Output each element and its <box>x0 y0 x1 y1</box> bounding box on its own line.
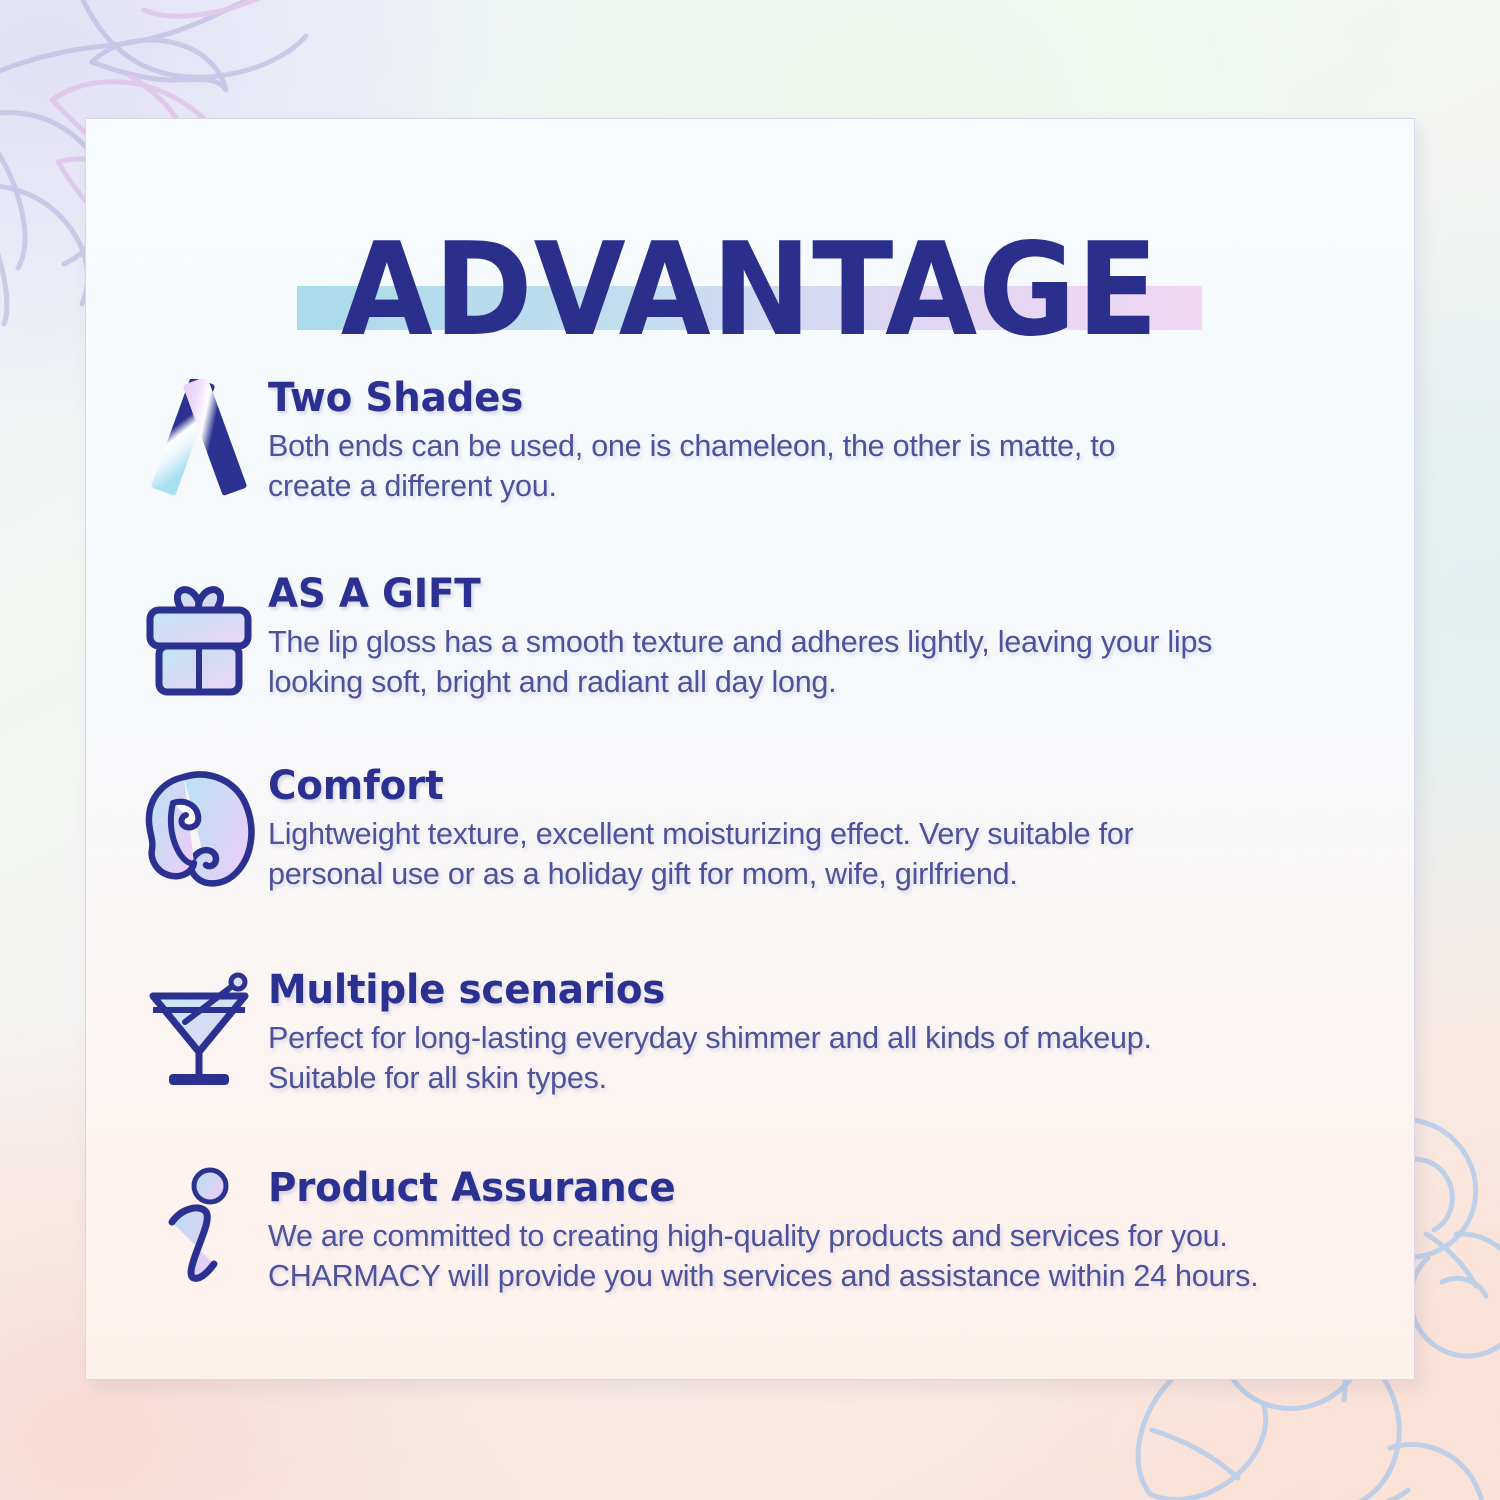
feature-list: Two Shades Both ends can be used, one is… <box>134 371 1394 1339</box>
feature-body-line: CHARMACY will provide you with services … <box>268 1257 1394 1297</box>
page-title: ADVANTAGE <box>86 211 1414 371</box>
feature-body-line: Lightweight texture, excellent moisturiz… <box>268 815 1394 855</box>
feature-text: Two Shades Both ends can be used, one is… <box>264 371 1394 506</box>
feature-item-product-assurance: Product Assurance We are committed to cr… <box>134 1161 1394 1331</box>
woman-hair-icon <box>134 765 264 895</box>
feature-body-line: Perfect for long-lasting everyday shimme… <box>268 1019 1394 1059</box>
feature-text: Multiple scenarios Perfect for long-last… <box>264 963 1394 1098</box>
page-title-text: ADVANTAGE <box>341 230 1159 353</box>
feature-body-line: create a different you. <box>268 467 1394 507</box>
feature-body-line: personal use or as a holiday gift for mo… <box>268 855 1394 895</box>
crossed-lipsticks-icon <box>134 377 264 507</box>
feature-heading: Product Assurance <box>268 1165 1360 1212</box>
feature-body-line: We are committed to creating high-qualit… <box>268 1217 1394 1257</box>
info-italic-i-icon <box>134 1167 264 1297</box>
feature-body: Lightweight texture, excellent moisturiz… <box>268 815 1394 894</box>
feature-body-line: Both ends can be used, one is chameleon,… <box>268 427 1394 467</box>
feature-item-as-a-gift: AS A GIFT The lip gloss has a smooth tex… <box>134 567 1394 751</box>
feature-body-line: Suitable for all skin types. <box>268 1059 1394 1099</box>
advantage-poster: ADVANTAGE <box>0 0 1500 1500</box>
feature-body: We are committed to creating high-qualit… <box>268 1217 1394 1296</box>
feature-body: Both ends can be used, one is chameleon,… <box>268 427 1394 506</box>
feature-body-line: looking soft, bright and radiant all day… <box>268 663 1394 703</box>
content-card: ADVANTAGE <box>85 118 1415 1380</box>
feature-heading: Comfort <box>268 763 1360 810</box>
feature-body: Perfect for long-lasting everyday shimme… <box>268 1019 1394 1098</box>
feature-heading: Two Shades <box>268 375 1360 422</box>
cocktail-glass-icon <box>134 969 264 1099</box>
feature-heading: Multiple scenarios <box>268 967 1360 1014</box>
feature-text: Product Assurance We are committed to cr… <box>264 1161 1394 1296</box>
feature-item-two-shades: Two Shades Both ends can be used, one is… <box>134 371 1394 559</box>
feature-text: AS A GIFT The lip gloss has a smooth tex… <box>264 567 1394 702</box>
feature-body-line: The lip gloss has a smooth texture and a… <box>268 623 1394 663</box>
feature-body: The lip gloss has a smooth texture and a… <box>268 623 1394 702</box>
feature-heading: AS A GIFT <box>268 571 1360 618</box>
feature-item-comfort: Comfort Lightweight texture, excellent m… <box>134 759 1394 955</box>
feature-text: Comfort Lightweight texture, excellent m… <box>264 759 1394 894</box>
feature-item-multiple-scenarios: Multiple scenarios Perfect for long-last… <box>134 963 1394 1153</box>
gift-box-icon <box>134 573 264 703</box>
